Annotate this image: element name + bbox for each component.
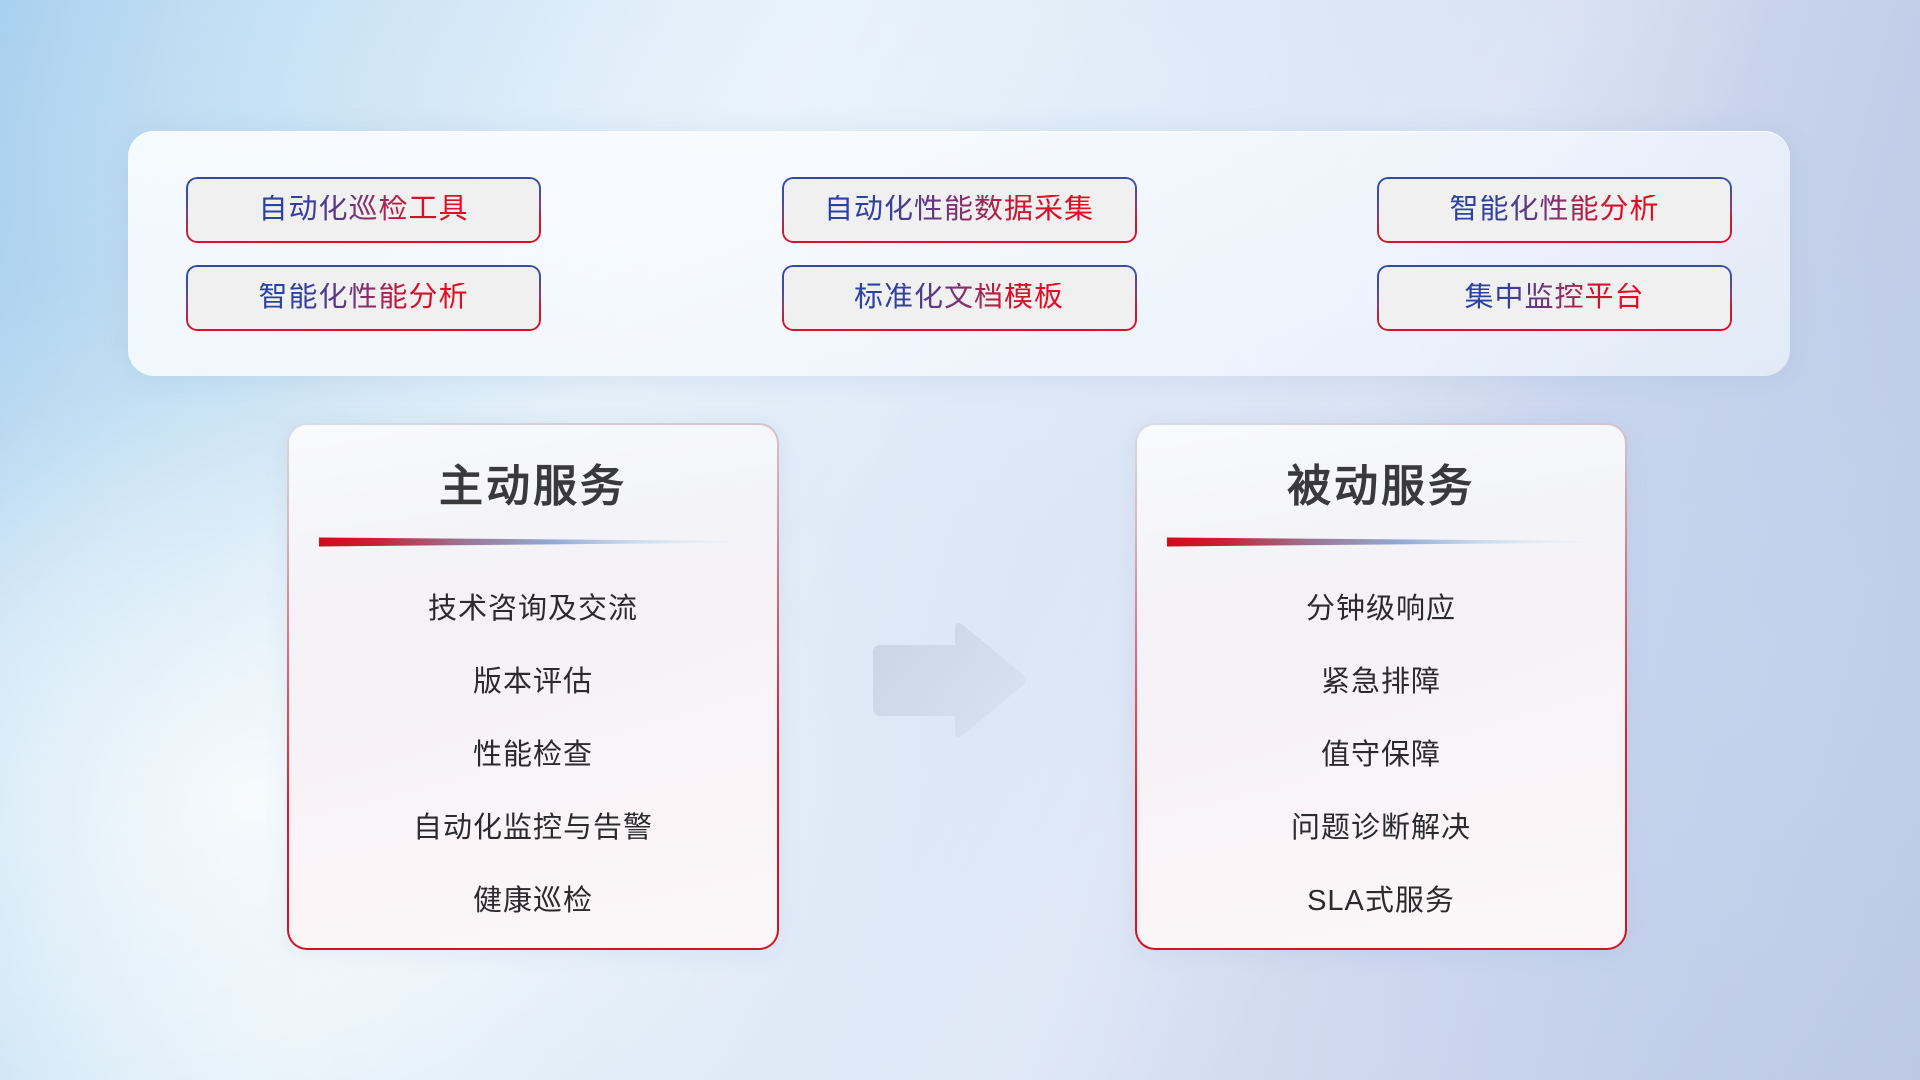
service-list-proactive: 技术咨询及交流 版本评估 性能检查 自动化监控与告警 健康巡检: [289, 569, 777, 934]
card-title-proactive: 主动服务: [439, 465, 627, 509]
title-underline-rule: [1167, 535, 1595, 547]
capability-row-2: 智能化性能分析 标准化文档模板 集中监控平台: [186, 265, 1732, 331]
capability-pill-intelligent-performance-analysis-bottom[interactable]: 智能化性能分析: [186, 265, 541, 331]
service-list-item: 自动化监控与告警: [289, 788, 777, 861]
service-list-item: 技术咨询及交流: [289, 569, 777, 642]
service-list-reactive: 分钟级响应 紧急排障 值守保障 问题诊断解决 SLA式服务: [1137, 569, 1625, 934]
service-list-item: 版本评估: [289, 642, 777, 715]
capability-pill-intelligent-performance-analysis-top[interactable]: 智能化性能分析: [1377, 177, 1732, 243]
service-card-reactive: 被动服务 分钟级响应 紧急排障 值守保障: [1135, 423, 1627, 950]
service-list-item: 问题诊断解决: [1137, 788, 1625, 861]
card-title-reactive: 被动服务: [1287, 465, 1475, 509]
capability-panel: 自动化巡检工具 自动化性能数据采集 智能化性能分析 智能化性能分析 标准化文档模…: [128, 131, 1790, 376]
service-list-item: 健康巡检: [289, 861, 777, 934]
service-list-item: 性能检查: [289, 715, 777, 788]
capability-pill-standardized-doc-template[interactable]: 标准化文档模板: [782, 265, 1137, 331]
capability-pill-centralized-monitoring-platform[interactable]: 集中监控平台: [1377, 265, 1732, 331]
service-list-item: 分钟级响应: [1137, 569, 1625, 642]
title-underline-rule: [319, 535, 747, 547]
service-list-item: 值守保障: [1137, 715, 1625, 788]
service-card-proactive: 主动服务 技术咨询及交流 版本评估 性能检查: [287, 423, 779, 950]
capability-pill-automated-performance-data-collection[interactable]: 自动化性能数据采集: [782, 177, 1137, 243]
capability-pill-label: 自动化巡检工具: [258, 195, 468, 224]
capability-pill-label: 集中监控平台: [1464, 283, 1644, 312]
arrow-right-icon: [869, 617, 1029, 745]
capability-pill-label: 智能化性能分析: [1449, 195, 1659, 224]
service-list-item: SLA式服务: [1137, 861, 1625, 934]
capability-pill-label: 标准化文档模板: [854, 283, 1064, 312]
capability-pill-label: 自动化性能数据采集: [824, 195, 1094, 224]
capability-pill-label: 智能化性能分析: [258, 283, 468, 312]
service-list-item: 紧急排障: [1137, 642, 1625, 715]
capability-pill-automated-inspection-tool[interactable]: 自动化巡检工具: [186, 177, 541, 243]
capability-row-1: 自动化巡检工具 自动化性能数据采集 智能化性能分析: [186, 177, 1732, 243]
slide-canvas: 自动化巡检工具 自动化性能数据采集 智能化性能分析 智能化性能分析 标准化文档模…: [0, 0, 1920, 1080]
